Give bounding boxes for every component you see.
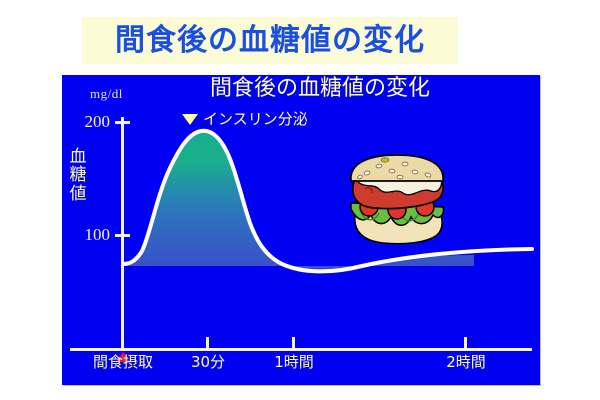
- x-tick-label-1hour: 1時間: [274, 355, 314, 370]
- chart-panel: 間食後の血糖値の変化 mg/dl 血 糖 値: [62, 75, 540, 385]
- x-tick-label-30min: 30分: [191, 355, 225, 370]
- hamburger-icon: [345, 153, 449, 247]
- insulin-annotation: インスリン分泌: [182, 112, 308, 127]
- y-tick-200: [115, 121, 130, 124]
- x-tick-1hour: [292, 337, 295, 349]
- y-tick-label-200: 200: [64, 113, 110, 130]
- down-triangle-icon: [182, 114, 198, 125]
- insulin-annotation-label: インスリン分泌: [203, 112, 308, 127]
- x-tick-label-snack-intake: 間食摂取: [93, 355, 153, 370]
- y-tick-label-100: 100: [64, 226, 110, 243]
- x-axis-line: [70, 348, 532, 351]
- page-title-banner: 間食後の血糖値の変化: [82, 17, 458, 64]
- y-tick-100: [115, 234, 130, 237]
- x-tick-30min: [206, 337, 209, 349]
- y-axis-line: [121, 117, 124, 349]
- x-tick-label-2hour: 2時間: [446, 355, 486, 370]
- page-title: 間食後の血糖値の変化: [115, 26, 425, 56]
- x-tick-2hour: [464, 337, 467, 349]
